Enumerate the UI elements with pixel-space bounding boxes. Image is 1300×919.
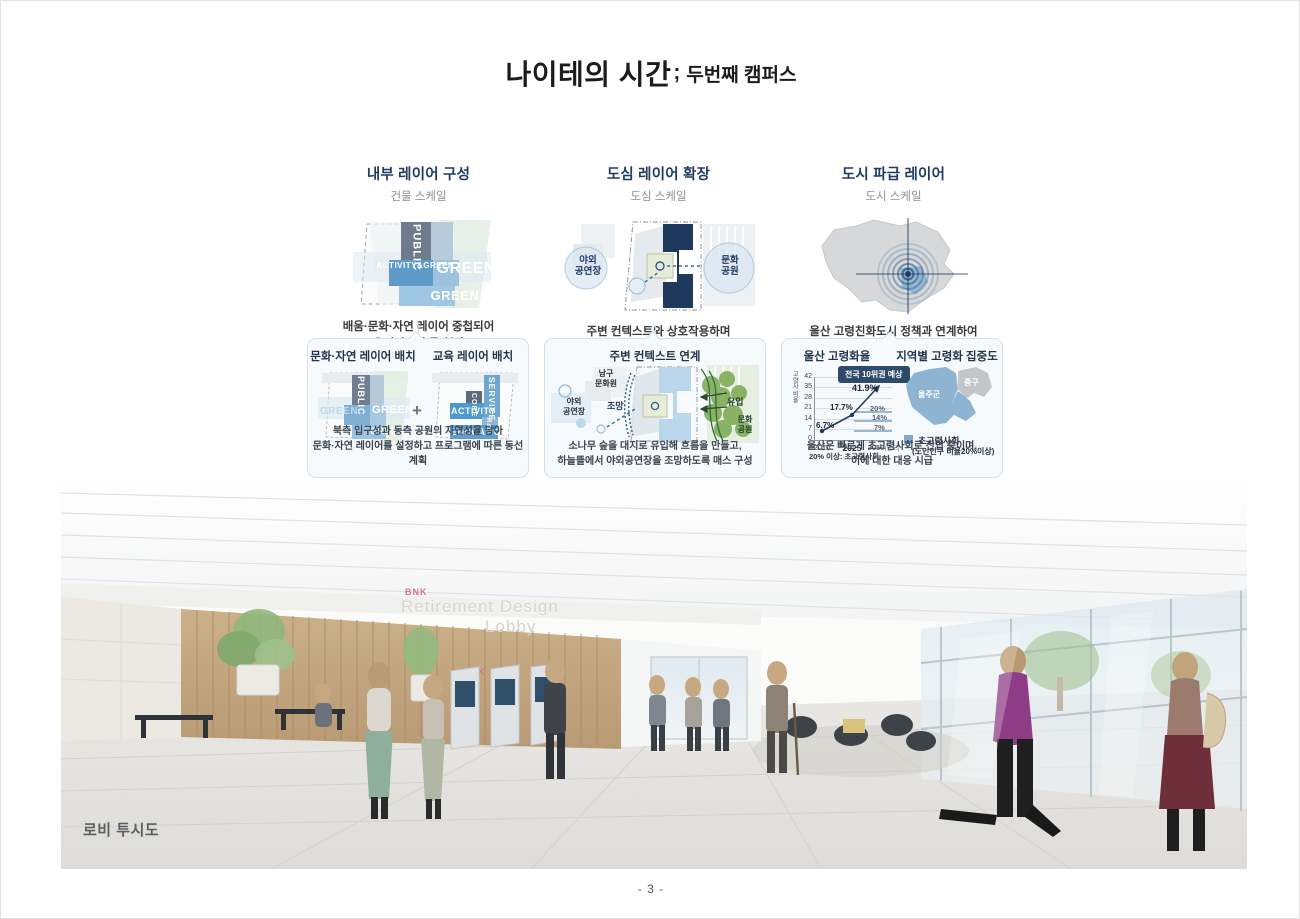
chart-datalabel-2050: 41.9% [852,383,878,393]
chart-datalabel-2010: 6.7% [816,421,834,430]
panel-1-label-activity: ACTIVITY [451,406,496,416]
panel-2-label-outdoor-stage: 야외 공연장 [553,397,595,416]
map-label-junggu: 중구 [964,377,979,388]
panel-2-label-culture-park: 문화 공원 [729,415,761,434]
diagram-label-outdoor-stage: 야외 공연장 [567,256,609,278]
panel-2-notch [646,332,664,340]
map-label-ulju: 울주군 [918,389,940,400]
title-sub-text: 두번째 캠퍼스 [686,60,796,87]
panel-layer-arrangement: 문화·자연 레이어 배치 교육 레이어 배치 PUBLIC GREEN GREE… [307,338,529,478]
panel-1-label-green-2: GREEN [372,404,414,416]
panel-2-label-namgu: 남구 문화원 [585,369,627,388]
panel-2-label-inflow: 유입 [727,395,744,408]
panel-3-caption-line1: 울산은 빠르게 초고령사회로 진입 중이며, [782,439,1002,454]
diagram-internal-layers: PUBLIC ACTIVITY&GREEN GREEN GREEN [339,216,499,311]
panel-2-label-view: 조망 [607,399,624,412]
lobby-rendering: BNK [61,479,1247,869]
diagram-city-ripple [804,216,984,316]
chart-datalabel-2025: 17.7% [830,403,853,412]
column-2-subheading: 도심 스케일 [546,188,771,204]
column-2-heading: 도심 레이어 확장 [546,163,771,184]
panel-2-caption: 소나무 숲을 대지로 유입해 흐름을 만들고, 하늘뜰에서 야외공연장을 조망하… [545,439,765,469]
diagram-label-green-2: GREEN [431,288,480,303]
panel-3-caption-line2: 이에 대한 대응 시급 [782,454,1002,469]
chart-annotation-badge: 전국 10위권 예상 [838,366,910,383]
signage-line-1: Retirement Design [401,597,559,617]
board-title: 나이테의 시간;두번째 캠퍼스 [1,53,1300,93]
signage-line-2: Lobby [485,617,536,637]
render-caption: 로비 투시도 [83,819,159,840]
diagram-label-culture-park: 문화 공원 [709,256,751,278]
panel-1-title-right: 교육 레이어 배치 [418,339,528,364]
panel-1-notch [409,332,427,340]
panel-3-notch [883,332,901,340]
panel-context-linkage: 주변 컨텍스트 연계 [544,338,766,478]
column-3-heading: 도시 파급 레이어 [781,163,1006,184]
panel-3-region-map: 울주군 중구 [900,363,998,429]
panel-1-caption-line1: 북측 입구성과 동측 공원의 자연성을 담아 [308,424,528,439]
presentation-board: 나이테의 시간;두번째 캠퍼스 내부 레이어 구성 건물 스케일 PUBLIC … [0,0,1300,919]
panel-1-label-green-1: GREEN [320,406,358,417]
panel-1-caption-line2: 문화·자연 레이어를 설정하고 프로그램에 따른 동선 계획 [308,439,528,469]
title-main-text: 나이테의 시간 [505,53,671,93]
diagram-label-green-1: GREEN [437,260,496,278]
column-1-subheading: 건물 스케일 [306,188,531,204]
ulsan-map-svg [804,216,984,316]
panel-3-title-right: 지역별 고령화 집중도 [892,339,1002,364]
panel-1-caption: 북측 입구성과 동측 공원의 자연성을 담아 문화·자연 레이어를 설정하고 프… [308,424,528,469]
diagram-label-activity-green: ACTIVITY&GREEN [377,262,435,270]
panel-aging-statistics: 울산 고령화율 지역별 고령화 집중도 고령자 비율 42 35 28 21 1… [781,338,1003,478]
panel-3-title-left: 울산 고령화율 [782,339,892,364]
lobby-perspective-svg: BNK [61,479,1247,869]
page-number: - 3 - [1,882,1300,896]
column-3-subheading: 도시 스케일 [781,188,1006,204]
panel-1-title-left: 문화·자연 레이어 배치 [308,339,418,364]
column-1-heading: 내부 레이어 구성 [306,163,531,184]
panel-3-caption: 울산은 빠르게 초고령사회로 진입 중이며, 이에 대한 대응 시급 [782,439,1002,469]
panel-2-caption-line2: 하늘뜰에서 야외공연장을 조망하도록 매스 구성 [545,454,765,469]
region-map-svg [900,363,998,429]
panel-2-caption-line1: 소나무 숲을 대지로 유입해 흐름을 만들고, [545,439,765,454]
panel-2-diagram: 남구 문화원 야외 공연장 조망 유입 문화 공원 [551,363,761,445]
diagram-urban-expansion: 야외 공연장 문화 공원 [551,216,766,316]
column-city-impact: 도시 파급 레이어 도시 스케일 [781,163,1006,359]
signage-brand: BNK [405,587,428,597]
panel-2-title: 주변 컨텍스트 연계 [545,339,765,364]
panel-1-plus-symbol: + [412,401,422,421]
title-separator: ; [673,61,680,85]
column-urban-layers: 도심 레이어 확장 도심 스케일 [546,163,771,359]
